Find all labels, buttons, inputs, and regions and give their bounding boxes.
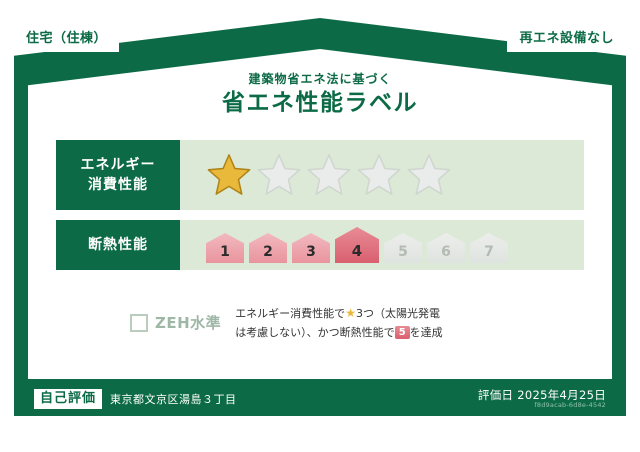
- insulation-level-badge-1: 1: [206, 233, 244, 263]
- footer-left-group: 自己評価 東京都文京区湯島３丁目: [34, 389, 237, 410]
- property-address: 東京都文京区湯島３丁目: [110, 391, 237, 407]
- insulation-level-badge-5: 5: [384, 233, 422, 263]
- zeh-label: ZEH水準: [155, 312, 221, 333]
- insulation-performance-label: 断熱性能: [56, 220, 180, 270]
- energy-performance-label: エネルギー 消費性能: [56, 140, 180, 210]
- star-icon-filled: [206, 152, 252, 198]
- star-icon-empty: [256, 152, 302, 198]
- label-footer: 自己評価 東京都文京区湯島３丁目 評価日 2025年4月25日 f8d9acab…: [14, 382, 626, 416]
- zeh-标-group: ZEH水準: [130, 312, 221, 333]
- zeh-description: エネルギー消費性能で★3つ（太陽光発電 は考慮しない）、かつ断熱性能で5を達成: [235, 304, 442, 342]
- self-evaluation-badge: 自己評価: [34, 389, 102, 410]
- insulation-level-badge-4: 4: [335, 227, 379, 263]
- star-icon-inline: ★: [345, 306, 356, 320]
- star-icon-empty: [306, 152, 352, 198]
- metrics-section: エネルギー 消費性能 断熱性能 1234567: [56, 140, 584, 280]
- footer-right-group: 評価日 2025年4月25日 f8d9acab-6d8e-4542: [478, 388, 606, 410]
- star-icon-empty: [406, 152, 452, 198]
- evaluation-id: f8d9acab-6d8e-4542: [478, 402, 606, 410]
- zeh-desc-line-1-pre: エネルギー消費性能で: [235, 307, 345, 320]
- zeh-desc-line-2-pre: は考慮しない）、かつ断熱性能で: [235, 326, 395, 339]
- star-icon-empty: [356, 152, 402, 198]
- insulation-performance-row: 断熱性能 1234567: [56, 220, 584, 270]
- zeh-standard-note: ZEH水準 エネルギー消費性能で★3つ（太陽光発電 は考慮しない）、かつ断熱性能…: [130, 304, 443, 342]
- title-block: 建築物省エネ法に基づく 省エネ性能ラベル: [0, 72, 640, 118]
- evaluation-date: 評価日 2025年4月25日: [478, 388, 606, 402]
- zeh-desc-line-2-post: を達成: [410, 326, 443, 339]
- insulation-level-badge-2: 2: [249, 233, 287, 263]
- insulation-level-badge-6: 6: [427, 233, 465, 263]
- insulation-level-badge-3: 3: [292, 233, 330, 263]
- insulation-performance-value: 1234567: [180, 220, 584, 270]
- checkbox-unchecked-icon: [130, 314, 148, 332]
- energy-performance-label: 住宅（住棟） 再エネ設備なし 建築物省エネ法に基づく 省エネ性能ラベル エネルギ…: [0, 0, 640, 452]
- energy-performance-value: [180, 140, 584, 210]
- insulation-level-badge-7: 7: [470, 233, 508, 263]
- building-type-tag: 住宅（住棟）: [14, 26, 119, 52]
- zeh-desc-line-1-post: 3つ（太陽光発電: [356, 307, 440, 320]
- insulation-level-inline-badge: 5: [395, 326, 410, 339]
- label-subtitle: 建築物省エネ法に基づく: [0, 72, 640, 86]
- energy-performance-row: エネルギー 消費性能: [56, 140, 584, 210]
- energy-label-line-1: エネルギー: [81, 157, 156, 173]
- star-rating: [206, 152, 452, 198]
- label-title: 省エネ性能ラベル: [0, 89, 640, 118]
- renewable-equipment-tag: 再エネ設備なし: [507, 26, 626, 52]
- energy-label-line-2: 消費性能: [88, 177, 148, 193]
- insulation-level-scale: 1234567: [206, 227, 508, 263]
